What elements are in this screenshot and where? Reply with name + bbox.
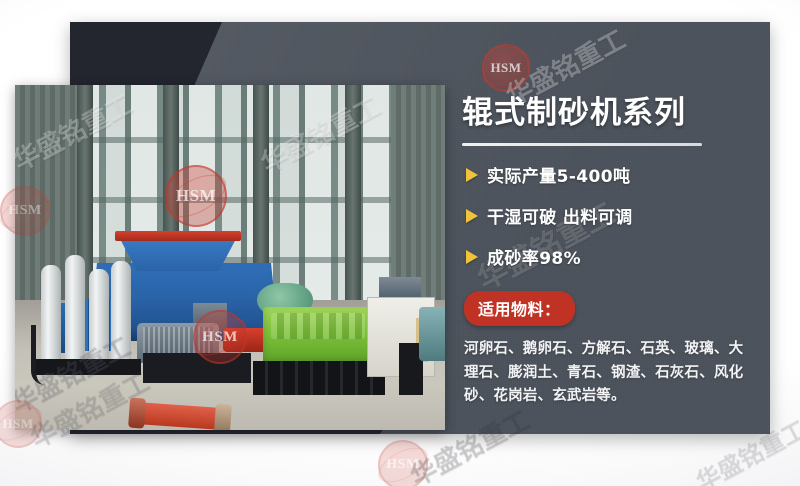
page-title: 辊式制砂机系列 bbox=[462, 96, 762, 130]
product-info: 辊式制砂机系列 实际产量5-400吨 干湿可破 出料可调 成砂率98% 适用物料… bbox=[462, 96, 762, 409]
feature-label: 成砂率98% bbox=[487, 244, 581, 269]
materials-text: 河卵石、鹅卵石、方解石、石英、玻璃、大理石、膨润土、青石、钢渣、石灰石、风化砂、… bbox=[464, 338, 750, 408]
arrow-right-icon bbox=[466, 209, 478, 223]
machine-base-left bbox=[143, 353, 251, 383]
hydraulic-hose bbox=[31, 325, 46, 385]
product-photo: HSM HSM 华盛铭重工 华盛铭重工 华盛铭重工 bbox=[15, 85, 445, 430]
shaft-flange-right bbox=[214, 404, 232, 430]
gas-cylinder-4 bbox=[111, 261, 131, 363]
feature-item: 干湿可破 出料可调 bbox=[466, 203, 762, 228]
crusher-hopper bbox=[119, 237, 237, 271]
feature-item: 成砂率98% bbox=[466, 244, 762, 269]
arrow-right-icon bbox=[466, 250, 478, 264]
poster-canvas: HSM 华盛铭重工 华盛铭重工 华盛铭重工 bbox=[0, 0, 800, 486]
gas-cylinder-3 bbox=[89, 269, 109, 363]
feature-item: 实际产量5-400吨 bbox=[466, 162, 762, 187]
right-roller-unit bbox=[419, 307, 445, 361]
arrow-right-icon bbox=[466, 168, 478, 182]
title-divider bbox=[462, 143, 702, 146]
photo-scene bbox=[15, 85, 445, 430]
shaft-flange-left bbox=[128, 398, 146, 429]
hopper-red-rim bbox=[115, 231, 241, 241]
gas-cylinder-2 bbox=[65, 255, 85, 363]
red-coupling bbox=[223, 328, 267, 352]
control-cabinet-top bbox=[379, 277, 421, 299]
feature-list: 实际产量5-400吨 干湿可破 出料可调 成砂率98% bbox=[462, 162, 762, 269]
cylinder-skid bbox=[33, 359, 141, 375]
steel-column-4 bbox=[345, 85, 361, 317]
feature-label: 实际产量5-400吨 bbox=[487, 162, 630, 187]
green-gearbox bbox=[263, 307, 373, 365]
feature-label: 干湿可破 出料可调 bbox=[487, 203, 633, 228]
materials-badge: 适用物料： bbox=[464, 291, 575, 326]
machine-base-right bbox=[253, 361, 385, 395]
